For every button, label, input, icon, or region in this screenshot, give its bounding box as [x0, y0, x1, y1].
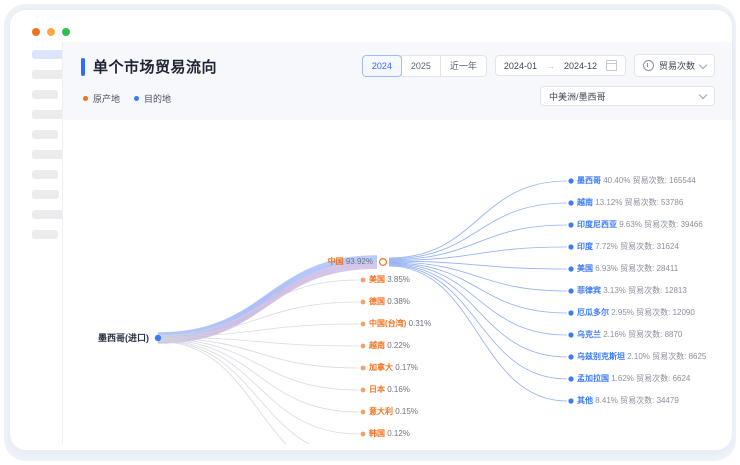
- label-destination: 印度尼西亚 9.63% 贸易次数: 39466: [577, 220, 703, 230]
- sidebar-item-7[interactable]: [32, 170, 58, 179]
- node-destination[interactable]: [568, 398, 573, 403]
- legend-label-origin: 原产地: [93, 92, 120, 105]
- label-origin: 德国 0.38%: [369, 297, 410, 307]
- node-destination[interactable]: [568, 376, 573, 381]
- node-destination[interactable]: [568, 332, 573, 337]
- label-destination: 乌克兰 2.16% 贸易次数: 8870: [577, 330, 682, 340]
- flow-link: [158, 338, 359, 368]
- node-destination[interactable]: [568, 178, 573, 183]
- date-range-start[interactable]: 2024-01: [504, 61, 537, 71]
- label-origin: 中国(台湾) 0.31%: [369, 319, 431, 329]
- flow-link: [389, 225, 567, 260]
- label-destination: 其他 8.41% 贸易次数: 34479: [577, 396, 679, 406]
- label-destination: 印度 7.72% 贸易次数: 31624: [577, 242, 679, 252]
- legend-item-destination: 目的地: [134, 92, 171, 105]
- sankey-chart: 墨西哥(进口)中国 93.92%美国 3.85%德国 0.38%中国(台湾) 0…: [63, 120, 731, 444]
- date-range-picker[interactable]: 2024-01 → 2024-12: [495, 55, 626, 76]
- label-root: 墨西哥(进口): [63, 333, 149, 343]
- node-destination[interactable]: [568, 288, 573, 293]
- flow-link: [389, 266, 567, 401]
- metric-dropdown-label: 贸易次数: [659, 59, 695, 72]
- label-origin: 美国 3.85%: [369, 275, 410, 285]
- window-controls[interactable]: [32, 28, 70, 36]
- sidebar-item-10[interactable]: [32, 230, 58, 239]
- node-root[interactable]: [155, 335, 161, 341]
- info-icon: [643, 60, 654, 71]
- flow-link: [389, 181, 567, 258]
- label-destination: 孟加拉国 1.62% 贸易次数: 6624: [577, 374, 690, 384]
- node-destination[interactable]: [568, 266, 573, 271]
- sankey-nodes: [155, 178, 574, 444]
- minimize-icon[interactable]: [47, 28, 55, 36]
- year-segmented-control: 2024 2025 近一年: [362, 55, 487, 77]
- flow-link: [158, 261, 377, 337]
- node-origin[interactable]: [361, 322, 366, 327]
- node-origin[interactable]: [361, 388, 366, 393]
- sidebar-item-2[interactable]: [32, 70, 65, 79]
- label-destination: 菲律宾 3.13% 贸易次数: 12813: [577, 286, 687, 296]
- flow-link: [158, 280, 359, 335]
- flow-link: [158, 340, 359, 434]
- node-origin[interactable]: [361, 344, 366, 349]
- sidebar-item-9[interactable]: [32, 210, 66, 219]
- label-destination: 厄瓜多尔 2.95% 贸易次数: 12090: [577, 308, 695, 318]
- node-origin[interactable]: [361, 300, 366, 305]
- title-text: 单个市场贸易流向: [93, 56, 217, 77]
- origin-dot-icon: [83, 96, 88, 101]
- legend-item-origin: 原产地: [83, 92, 120, 105]
- label-origin: 韩国 0.12%: [369, 429, 410, 439]
- origin-links: [158, 256, 377, 444]
- label-destination: 美国 6.93% 贸易次数: 28411: [577, 264, 678, 274]
- sidebar-item-3[interactable]: [32, 90, 58, 99]
- maximize-icon[interactable]: [62, 28, 70, 36]
- region-select[interactable]: 中美洲/墨西哥: [540, 86, 715, 106]
- metric-dropdown[interactable]: 贸易次数: [634, 54, 715, 77]
- page-title: 单个市场贸易流向: [81, 56, 217, 77]
- flow-link: [389, 264, 567, 357]
- chevron-down-icon: [699, 91, 707, 99]
- legend-label-destination: 目的地: [144, 92, 171, 105]
- year-button-recent[interactable]: 近一年: [440, 55, 487, 77]
- date-range-separator-icon: →: [546, 61, 555, 71]
- year-button-2025[interactable]: 2025: [401, 55, 441, 77]
- node-origin[interactable]: [361, 432, 366, 437]
- node-destination[interactable]: [568, 222, 573, 227]
- label-origin: 越南 0.22%: [369, 341, 410, 351]
- flow-link: [389, 203, 567, 259]
- destination-dot-icon: [134, 96, 139, 101]
- app-window: 单个市场贸易流向 原产地 目的地 2024 2025: [10, 10, 732, 450]
- close-icon[interactable]: [32, 28, 40, 36]
- flow-link: [158, 260, 377, 336]
- sidebar-item-6[interactable]: [32, 150, 65, 159]
- flow-link: [158, 342, 359, 445]
- label-origin: 日本 0.16%: [369, 385, 410, 395]
- card-header: 单个市场贸易流向 原产地 目的地 2024 2025: [63, 42, 731, 121]
- toolbar: 2024 2025 近一年 2024-01 → 2024-12 贸易次数: [362, 54, 715, 77]
- year-button-2024[interactable]: 2024: [362, 55, 402, 77]
- label-destination: 越南 13.12% 贸易次数: 53786: [577, 198, 683, 208]
- label-origin: 意大利 0.15%: [369, 407, 418, 417]
- sidebar-item-1[interactable]: [32, 50, 66, 59]
- date-range-end[interactable]: 2024-12: [564, 61, 597, 71]
- chart-card: 单个市场贸易流向 原产地 目的地 2024 2025: [62, 42, 731, 444]
- label-destination: 乌兹别克斯坦 2.10% 贸易次数: 8625: [577, 352, 706, 362]
- title-accent-bar: [81, 58, 85, 76]
- chevron-down-icon: [699, 60, 707, 68]
- node-origin[interactable]: [361, 278, 366, 283]
- node-destination[interactable]: [568, 354, 573, 359]
- sidebar-item-5[interactable]: [32, 130, 58, 139]
- flow-link: [158, 262, 377, 338]
- node-destination[interactable]: [568, 200, 573, 205]
- label-destination: 墨西哥 40.40% 贸易次数: 165544: [577, 176, 696, 186]
- label-origin: 加拿大 0.17%: [369, 363, 418, 373]
- node-origin[interactable]: [361, 366, 366, 371]
- region-select-value: 中美洲/墨西哥: [549, 90, 606, 103]
- calendar-icon[interactable]: [606, 60, 617, 71]
- node-destination[interactable]: [568, 310, 573, 315]
- flow-link: [158, 263, 377, 339]
- sidebar-item-4[interactable]: [32, 110, 66, 119]
- flow-link: [158, 264, 377, 340]
- label-hub-china: 中国 93.92%: [63, 257, 373, 267]
- sidebar-item-8[interactable]: [32, 190, 59, 199]
- flow-link: [158, 339, 359, 412]
- node-hub-china[interactable]: [380, 259, 387, 266]
- screenshot-root: 单个市场贸易流向 原产地 目的地 2024 2025: [0, 0, 740, 465]
- legend: 原产地 目的地: [83, 92, 171, 105]
- flow-link: [158, 341, 359, 444]
- node-origin[interactable]: [361, 410, 366, 415]
- node-destination[interactable]: [568, 244, 573, 249]
